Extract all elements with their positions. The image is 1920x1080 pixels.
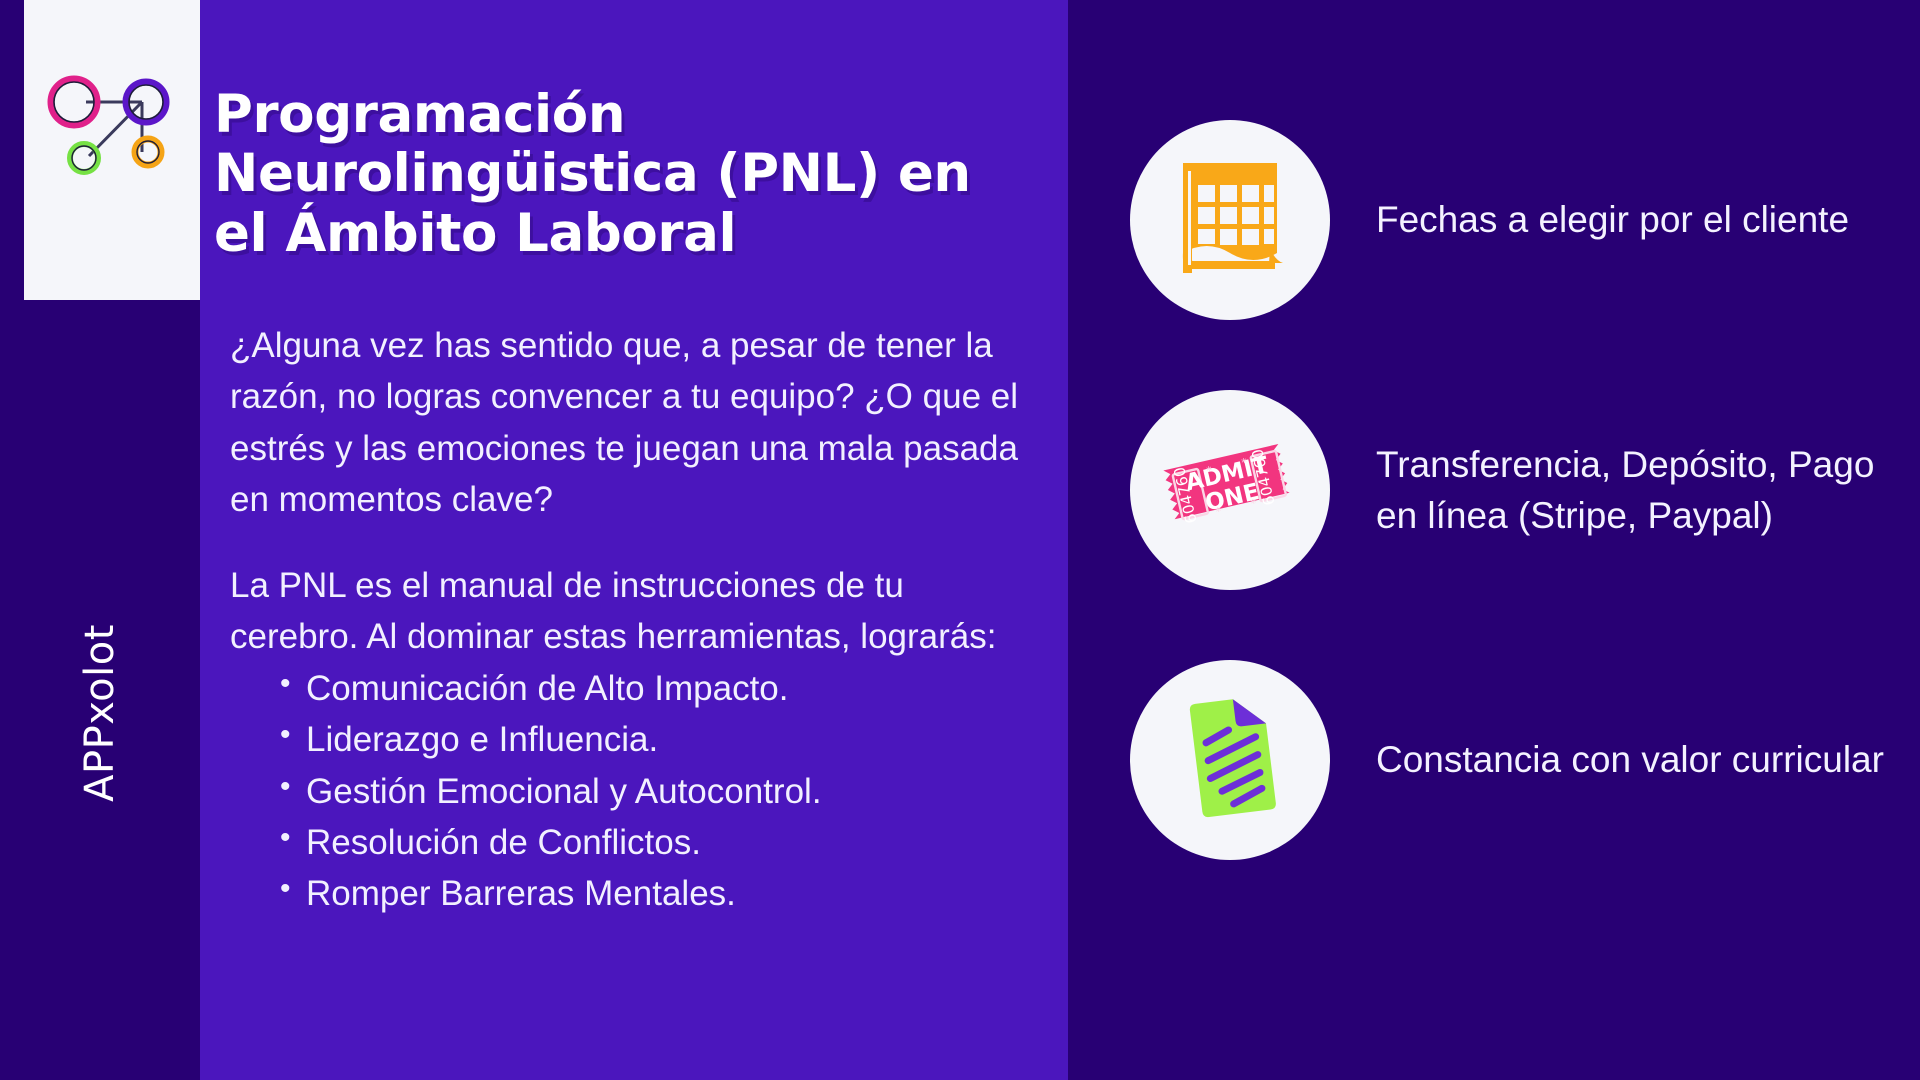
list-item: Resolución de Conflictos. xyxy=(278,817,1030,868)
list-item: Comunicación de Alto Impacto. xyxy=(278,663,1030,714)
feature-row: Fechas a elegir por el cliente xyxy=(1130,120,1920,320)
benefit-list: Comunicación de Alto Impacto. Liderazgo … xyxy=(278,663,1030,920)
lead-paragraph: La PNL es el manual de instrucciones de … xyxy=(230,560,1030,663)
feature-label: Transferencia, Depósito, Pago en línea (… xyxy=(1376,439,1916,541)
feature-column: Fechas a elegir por el cliente 604760 60… xyxy=(1068,0,1920,1080)
feature-badge-certificate xyxy=(1130,660,1330,860)
list-item: Romper Barreras Mentales. xyxy=(278,868,1030,919)
logo-panel xyxy=(24,0,200,300)
list-item: Gestión Emocional y Autocontrol. xyxy=(278,766,1030,817)
brand-name-container: APPxolot xyxy=(0,690,200,730)
feature-row: 604760 604760 ADMIT ONE * * * * xyxy=(1130,390,1920,590)
feature-label: Constancia con valor curricular xyxy=(1376,734,1884,785)
certificate-document-icon xyxy=(1166,692,1294,829)
feature-row: Constancia con valor curricular xyxy=(1130,660,1920,860)
slide-canvas: APPxolot Programación Neurolingüistica (… xyxy=(0,0,1920,1080)
intro-paragraph: ¿Alguna vez has sentido que, a pesar de … xyxy=(230,320,1030,526)
feature-badge-payment: 604760 604760 ADMIT ONE * * * * xyxy=(1130,390,1330,590)
list-item: Liderazgo e Influencia. xyxy=(278,714,1030,765)
brand-rail: APPxolot xyxy=(0,0,200,1080)
feature-badge-dates xyxy=(1130,120,1330,320)
feature-label: Fechas a elegir por el cliente xyxy=(1376,194,1849,245)
admit-one-ticket-icon: 604760 604760 ADMIT ONE * * * * xyxy=(1155,428,1305,553)
calendar-icon xyxy=(1171,157,1289,284)
body-copy: ¿Alguna vez has sentido que, a pesar de … xyxy=(230,320,1030,920)
paragraph-spacer xyxy=(230,526,1030,560)
brand-name: APPxolot xyxy=(77,533,123,893)
network-nodes-logo-icon xyxy=(46,60,176,185)
page-title: Programación Neurolingüistica (PNL) en e… xyxy=(214,85,1004,263)
main-content-panel: Programación Neurolingüistica (PNL) en e… xyxy=(200,0,1068,1080)
